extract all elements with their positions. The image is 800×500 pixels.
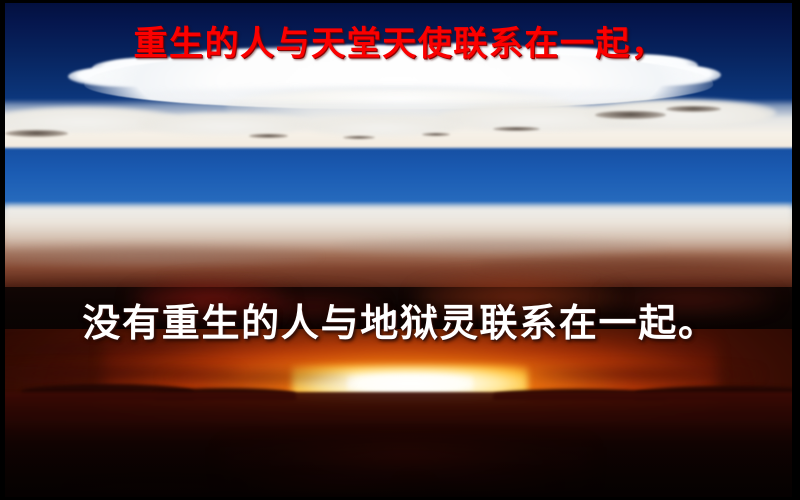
- terrain-outcrop: [422, 133, 450, 136]
- fire-cloud-bar: [162, 371, 351, 383]
- terrain-outcrop: [5, 130, 68, 137]
- fire-cloud-bar: [524, 368, 760, 381]
- fire-hot-center: [347, 374, 473, 392]
- ember-glow: [603, 285, 776, 315]
- terrain-outcrop: [249, 134, 288, 138]
- terrain-outcrop: [343, 136, 374, 139]
- slide-canvas: 重生的人与天堂天使联系在一起， 没有重生的人与地狱灵联系在一起。: [0, 0, 800, 500]
- ember-glow: [414, 277, 619, 317]
- ember-glow: [241, 294, 383, 319]
- slide-image: [5, 3, 792, 497]
- hellfire-sunset-layer: [5, 329, 792, 497]
- cloud-deck-bump: [139, 113, 312, 134]
- terrain-outcrop: [595, 111, 666, 119]
- foreground-vignette: [5, 420, 792, 497]
- terrain-outcrop: [666, 106, 721, 112]
